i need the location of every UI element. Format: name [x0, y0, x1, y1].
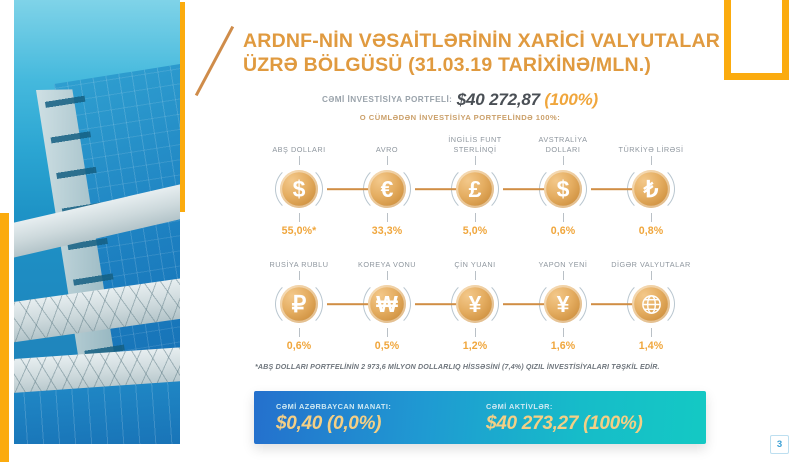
currency-row-1: ABŞ DOLLARI $ 55,0%* AVRO € 33,3% İNGİLİ…	[255, 134, 695, 237]
won-coin-icon: ₩	[368, 285, 406, 323]
tick-top	[563, 156, 564, 165]
currency-cell-eur[interactable]: AVRO € 33,3%	[343, 134, 431, 237]
summary-percent: (100%)	[544, 90, 598, 109]
summary-line: CƏMİ İNVESTİSİYA PORTFELİ: $40 272,87 (1…	[200, 90, 720, 110]
ruble-coin-icon: ₽	[280, 285, 318, 323]
yuan-coin-icon: ¥	[456, 285, 494, 323]
tick-top	[563, 271, 564, 280]
summary-subnote: O CÜMLƏDƏN İNVESTİSİYA PORTFELİNDƏ 100%:	[200, 113, 720, 122]
tick-bottom	[299, 213, 300, 222]
banner-value-manat: $0,40 (0,0%)	[276, 413, 391, 435]
coin-wrap: ₽	[255, 280, 343, 328]
orange-accent-bar-left	[0, 213, 9, 462]
currency-cell-cny[interactable]: ÇİN YUANI ¥ 1,2%	[431, 249, 519, 352]
tick-bottom	[651, 213, 652, 222]
currency-value: 1,2%	[431, 340, 519, 352]
tick-bottom	[475, 328, 476, 337]
connector-line	[503, 303, 547, 305]
tick-top	[475, 271, 476, 280]
connector-line	[327, 188, 371, 190]
connector-line	[327, 303, 371, 305]
currency-value: 0,6%	[519, 225, 607, 237]
currency-value: 0,8%	[607, 225, 695, 237]
connector-line	[503, 188, 547, 190]
currency-value: 0,6%	[255, 340, 343, 352]
tick-bottom	[387, 213, 388, 222]
tick-top	[299, 156, 300, 165]
tick-top	[475, 156, 476, 165]
tick-top	[299, 271, 300, 280]
totals-banner: CƏMİ AZƏRBAYCAN MANATI: $0,40 (0,0%) CƏM…	[254, 391, 706, 444]
currency-label: YAPON YENİ	[519, 249, 607, 269]
footnote-text: *ABŞ DOLLARI PORTFELİNİN 2 973,6 MİLYON …	[255, 363, 715, 371]
currency-label: KOREYA VONU	[343, 249, 431, 269]
currency-row-2: RUSİYA RUBLU ₽ 0,6% KOREYA VONU ₩ 0,5% Ç…	[255, 249, 695, 352]
currency-label: AVSTRALİYA DOLLARI	[519, 134, 607, 154]
currency-cell-krw[interactable]: KOREYA VONU ₩ 0,5%	[343, 249, 431, 352]
lira-coin-icon: ₺	[632, 170, 670, 208]
currency-cell-gbp[interactable]: İNGİLİS FUNT STERLİNQİ £ 5,0%	[431, 134, 519, 237]
connector-line	[591, 188, 635, 190]
tick-bottom	[563, 328, 564, 337]
currency-cell-other[interactable]: DİGƏR VALYUTALAR 1,4%	[607, 249, 695, 352]
currency-value: 55,0%*	[255, 225, 343, 237]
currency-value: 5,0%	[431, 225, 519, 237]
orange-corner-bracket	[724, 0, 789, 80]
connector-line	[415, 303, 459, 305]
currency-cell-rub[interactable]: RUSİYA RUBLU ₽ 0,6%	[255, 249, 343, 352]
tick-bottom	[651, 328, 652, 337]
building-photo	[14, 0, 180, 444]
tick-top	[651, 271, 652, 280]
currency-cell-aud[interactable]: AVSTRALİYA DOLLARI $ 0,6%	[519, 134, 607, 237]
tick-bottom	[387, 328, 388, 337]
page-title-line-2: ÜZRƏ BÖLGÜSÜ (31.03.19 TARİXİNƏ/MLN.)	[243, 53, 713, 77]
tick-bottom	[475, 213, 476, 222]
currency-label: TÜRKİYƏ LİRƏSİ	[607, 134, 695, 154]
currency-label: İNGİLİS FUNT STERLİNQİ	[431, 134, 519, 154]
currency-label: AVRO	[343, 134, 431, 154]
banner-label-assets: CƏMİ AKTİVLƏR:	[486, 402, 643, 411]
currency-value: 0,5%	[343, 340, 431, 352]
currency-cell-jpy[interactable]: YAPON YENİ ¥ 1,6%	[519, 249, 607, 352]
currency-label: RUSİYA RUBLU	[255, 249, 343, 269]
banner-label-manat: CƏMİ AZƏRBAYCAN MANATI:	[276, 402, 391, 411]
banner-group-assets: CƏMİ AKTİVLƏR: $40 273,27 (100%)	[486, 402, 643, 435]
currency-cell-try[interactable]: TÜRKİYƏ LİRƏSİ ₺ 0,8%	[607, 134, 695, 237]
connector-line	[591, 303, 635, 305]
connector-line	[415, 188, 459, 190]
tick-bottom	[563, 213, 564, 222]
currency-value: 1,6%	[519, 340, 607, 352]
tick-top	[651, 156, 652, 165]
currency-label: ÇİN YUANI	[431, 249, 519, 269]
currency-label: ABŞ DOLLARI	[255, 134, 343, 154]
currency-value: 33,3%	[343, 225, 431, 237]
dollar-coin-icon: $	[544, 170, 582, 208]
currency-value: 1,4%	[607, 340, 695, 352]
summary-amount: $40 272,87	[457, 90, 540, 109]
coin-wrap: $	[255, 165, 343, 213]
euro-coin-icon: €	[368, 170, 406, 208]
yen-coin-icon: ¥	[544, 285, 582, 323]
pound-coin-icon: £	[456, 170, 494, 208]
page-title-line-1: ARDNF-NİN VƏSAİTLƏRİNİN XARİCİ VALYUTALA…	[243, 29, 713, 53]
currency-label: DİGƏR VALYUTALAR	[607, 249, 695, 269]
page-number-badge: 3	[770, 435, 789, 454]
currency-cell-usd[interactable]: ABŞ DOLLARI $ 55,0%*	[255, 134, 343, 237]
tick-top	[387, 271, 388, 280]
tick-bottom	[299, 328, 300, 337]
tick-top	[387, 156, 388, 165]
banner-value-assets: $40 273,27 (100%)	[486, 413, 643, 435]
title-slash-decoration	[195, 26, 234, 96]
page-title: ARDNF-NİN VƏSAİTLƏRİNİN XARİCİ VALYUTALA…	[243, 29, 713, 77]
banner-group-manat: CƏMİ AZƏRBAYCAN MANATI: $0,40 (0,0%)	[276, 402, 391, 435]
dollar-coin-icon: $	[280, 170, 318, 208]
globe-coin-icon	[632, 285, 670, 323]
summary-label: CƏMİ İNVESTİSİYA PORTFELİ:	[322, 95, 452, 104]
